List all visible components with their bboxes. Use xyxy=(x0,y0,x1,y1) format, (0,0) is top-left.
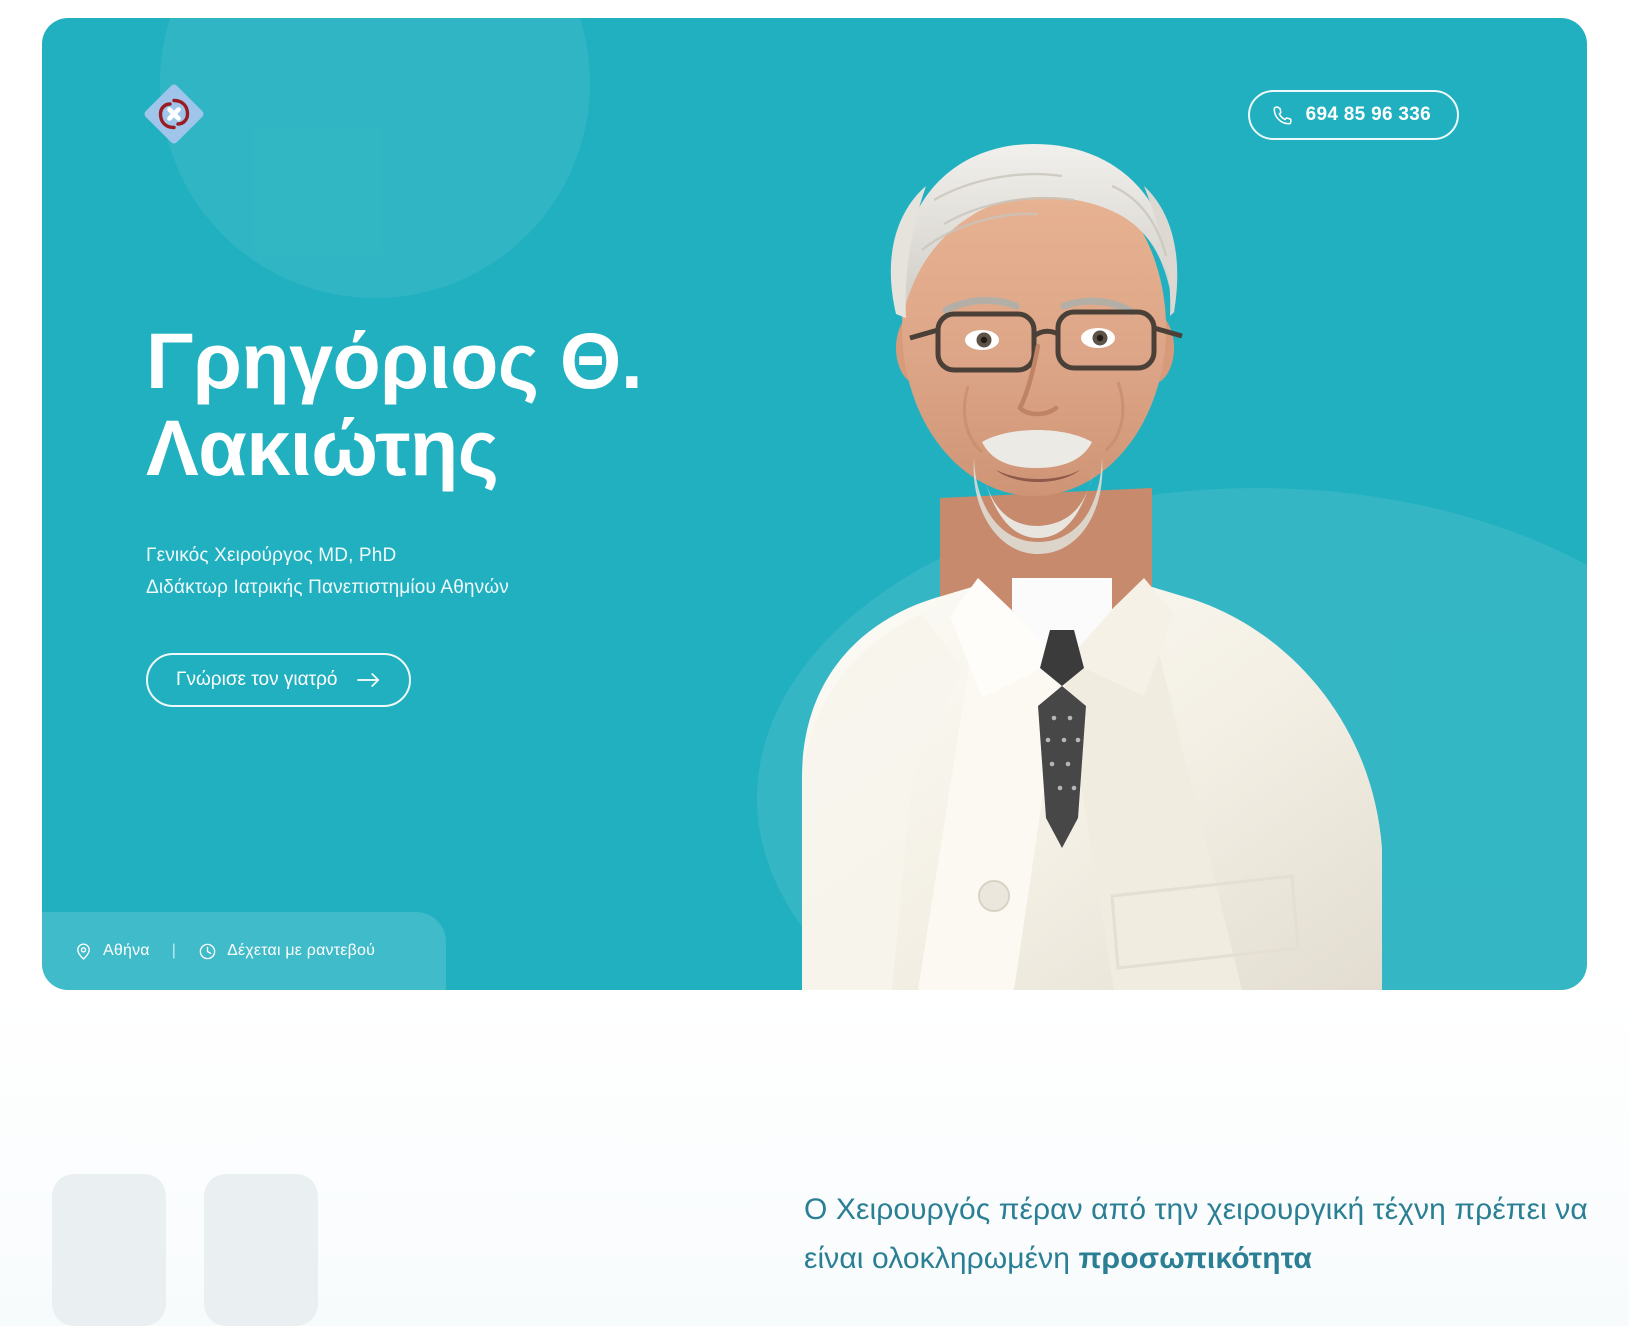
hero-title-line-1: Γρηγόριος Θ. xyxy=(146,316,642,405)
decorative-blob-top-left xyxy=(160,18,590,298)
availability-label: Δέχεται με ραντεβού xyxy=(227,942,375,960)
meet-the-doctor-button[interactable]: Γνώρισε τον γιατρό xyxy=(146,653,411,707)
hero-title-line-2: Λακιώτης xyxy=(146,403,498,492)
clock-icon xyxy=(198,942,217,961)
hero-subtitle-line-2: Διδάκτωρ Ιατρικής Πανεπιστημίου Αθηνών xyxy=(146,577,509,598)
arrow-right-icon xyxy=(357,671,381,689)
location-info: Αθήνα xyxy=(74,942,150,961)
page-root: 694 85 96 336 Γρηγόριος Θ. Λακιώτης Γενι… xyxy=(0,0,1629,1326)
doctor-portrait xyxy=(682,18,1442,990)
placeholder-card-1[interactable] xyxy=(52,1174,166,1326)
hero-subtitle-line-1: Γενικός Χειρούργος MD, PhD xyxy=(146,545,396,566)
placeholder-card-group xyxy=(52,1174,318,1326)
doctor-portrait-illustration xyxy=(682,18,1442,990)
clinic-spiral-diamond-logo-icon xyxy=(154,94,194,134)
cta-label: Γνώρισε τον γιατρό xyxy=(176,669,337,691)
site-logo[interactable] xyxy=(146,86,202,142)
location-label: Αθήνα xyxy=(103,942,150,960)
info-separator: | xyxy=(172,942,176,960)
hero-info-bar: Αθήνα | Δέχεται με ραντεβού xyxy=(42,912,446,990)
availability-info: Δέχεται με ραντεβού xyxy=(198,942,375,961)
hero-section: 694 85 96 336 Γρηγόριος Θ. Λακιώτης Γενι… xyxy=(42,18,1587,990)
doctor-quote: Ο Χειρουργός πέραν από την χειρουργική τ… xyxy=(804,1186,1594,1283)
quote-emphasis: προσωπικότητα xyxy=(1078,1242,1311,1275)
location-pin-icon xyxy=(74,942,93,961)
placeholder-card-2[interactable] xyxy=(204,1174,318,1326)
